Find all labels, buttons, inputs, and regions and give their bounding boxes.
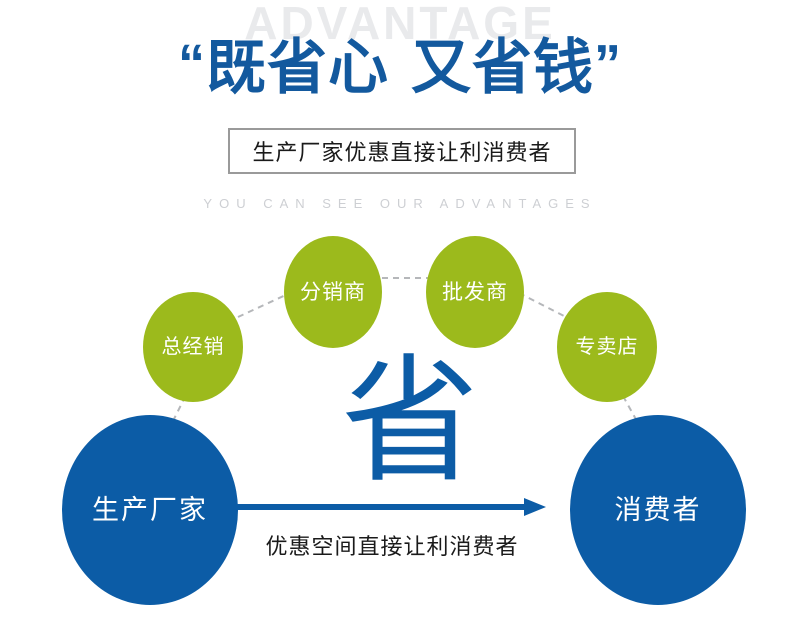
subtitle-box: 生产厂家优惠直接让利消费者	[228, 128, 576, 174]
node-consumer[interactable]: 消费者	[570, 415, 746, 605]
quote-close-mark: ”	[594, 34, 622, 94]
node-pifashang[interactable]: 批发商	[426, 236, 524, 348]
node-fenxiaoshang[interactable]: 分销商	[284, 236, 382, 348]
node-label: 消费者	[615, 497, 702, 524]
distribution-chain-diagram: 总经销 分销商 批发商 专卖店 生产厂家 消费者 省 优惠空间直接让利消费者	[0, 235, 800, 637]
arrow-line	[236, 504, 526, 510]
page-title: “既省心又省钱”	[0, 26, 800, 106]
title-segment-1: 既省心	[206, 34, 389, 101]
big-save-character: 省	[330, 353, 490, 491]
node-label: 生产厂家	[92, 497, 208, 524]
flow-arrow-icon	[236, 497, 548, 517]
node-zongjingxiao[interactable]: 总经销	[143, 292, 243, 402]
node-label: 分销商	[300, 282, 366, 303]
arrow-caption: 优惠空间直接让利消费者	[206, 529, 578, 561]
node-label: 专卖店	[576, 337, 639, 357]
node-manufacturer[interactable]: 生产厂家	[62, 415, 238, 605]
advantage-banner: ADVANTAGE “既省心又省钱” 生产厂家优惠直接让利消费者 YOU CAN…	[0, 0, 800, 637]
connector-pifashang-to-zhuanmaidian	[519, 293, 568, 318]
node-label: 批发商	[442, 282, 508, 303]
quote-open-mark: “	[178, 34, 206, 94]
subtitle-text: 生产厂家优惠直接让利消费者	[252, 135, 551, 167]
english-subtitle: YOU CAN SEE OUR ADVANTAGES	[0, 196, 800, 211]
node-zhuanmaidian[interactable]: 专卖店	[557, 292, 657, 402]
arrow-head	[524, 498, 546, 516]
connector-zongjingxiao-to-fenxiaoshang	[238, 293, 290, 317]
title-segment-2: 又省钱	[411, 34, 594, 101]
node-label: 总经销	[162, 337, 225, 357]
